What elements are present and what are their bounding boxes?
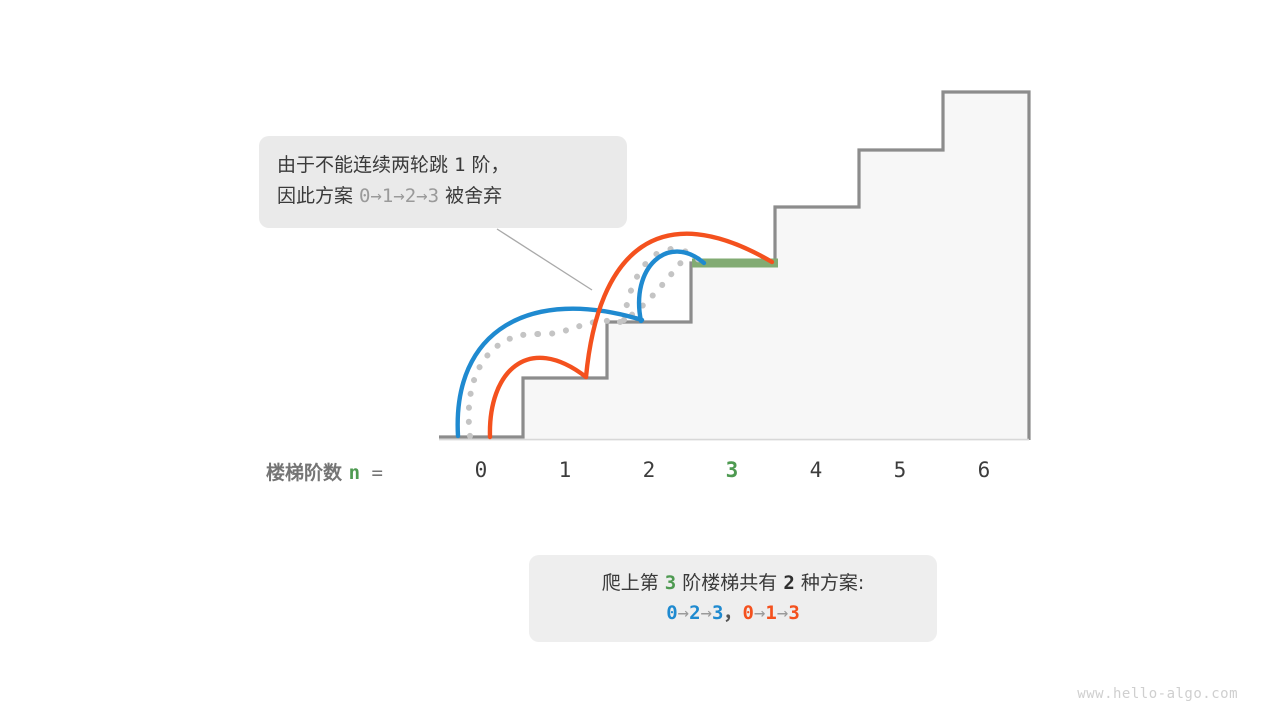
callout-line1-number: 1 [454,154,465,176]
caption-solution-2: 0→1→3 [743,602,800,624]
caption-node-3: 3 [712,602,723,624]
axis-label-variable: n [349,462,360,484]
caption-arrow-icon: → [701,602,712,624]
result-caption: 爬上第 3 阶楼梯共有 2 种方案: 0→2→3，0→1→3 [529,555,937,642]
callout-line1-pre: 由于不能连续两轮跳 [277,154,454,176]
callout-rejected-path: 0→1→2→3 [359,185,439,207]
axis-tick-5: 5 [880,458,920,482]
axis-label: 楼梯阶数 n = [266,458,383,485]
caption-solutions: 0→2→3，0→1→3 [539,598,927,628]
caption-pre: 爬上第 [602,572,665,594]
caption-solution-1: 0→2→3 [666,602,723,624]
caption-post: 种方案: [795,572,864,594]
caption-node-0: 0 [666,602,677,624]
axis-tick-1: 1 [545,458,585,482]
callout-line1-post: 阶， [466,154,510,176]
axis-tick-2: 2 [629,458,669,482]
watermark: www.hello-algo.com [1077,686,1238,702]
callout-line2-post: 被舍弃 [439,185,502,207]
axis-label-text: 楼梯阶数 [266,462,349,484]
callout-line2-pre: 因此方案 [277,185,359,207]
caption-step-number: 3 [665,572,676,594]
caption-arrow-icon: → [678,602,689,624]
axis-label-equals: = [360,462,383,484]
axis-tick-6: 6 [964,458,1004,482]
caption-node-0: 0 [743,602,754,624]
caption-line-1: 爬上第 3 阶楼梯共有 2 种方案: [539,569,927,598]
caption-mid: 阶楼梯共有 [676,572,783,594]
diagram-canvas: 由于不能连续两轮跳 1 阶， 因此方案 0→1→2→3 被舍弃 楼梯阶数 n =… [0,0,1280,720]
caption-arrow-icon: → [754,602,765,624]
caption-node-1: 1 [765,602,776,624]
axis-row: 楼梯阶数 n = 0123456 [0,458,1280,492]
callout-line-1: 由于不能连续两轮跳 1 阶， [277,150,609,181]
caption-count: 2 [783,572,794,594]
caption-arrow-icon: → [777,602,788,624]
caption-node-2: 2 [689,602,700,624]
caption-separator: ， [723,602,742,624]
axis-tick-0: 0 [461,458,501,482]
caption-node-3: 3 [788,602,799,624]
constraint-callout: 由于不能连续两轮跳 1 阶， 因此方案 0→1→2→3 被舍弃 [259,136,627,228]
callout-line-2: 因此方案 0→1→2→3 被舍弃 [277,181,609,212]
axis-tick-4: 4 [796,458,836,482]
callout-pointer-line [497,229,592,290]
axis-tick-3: 3 [712,458,752,482]
